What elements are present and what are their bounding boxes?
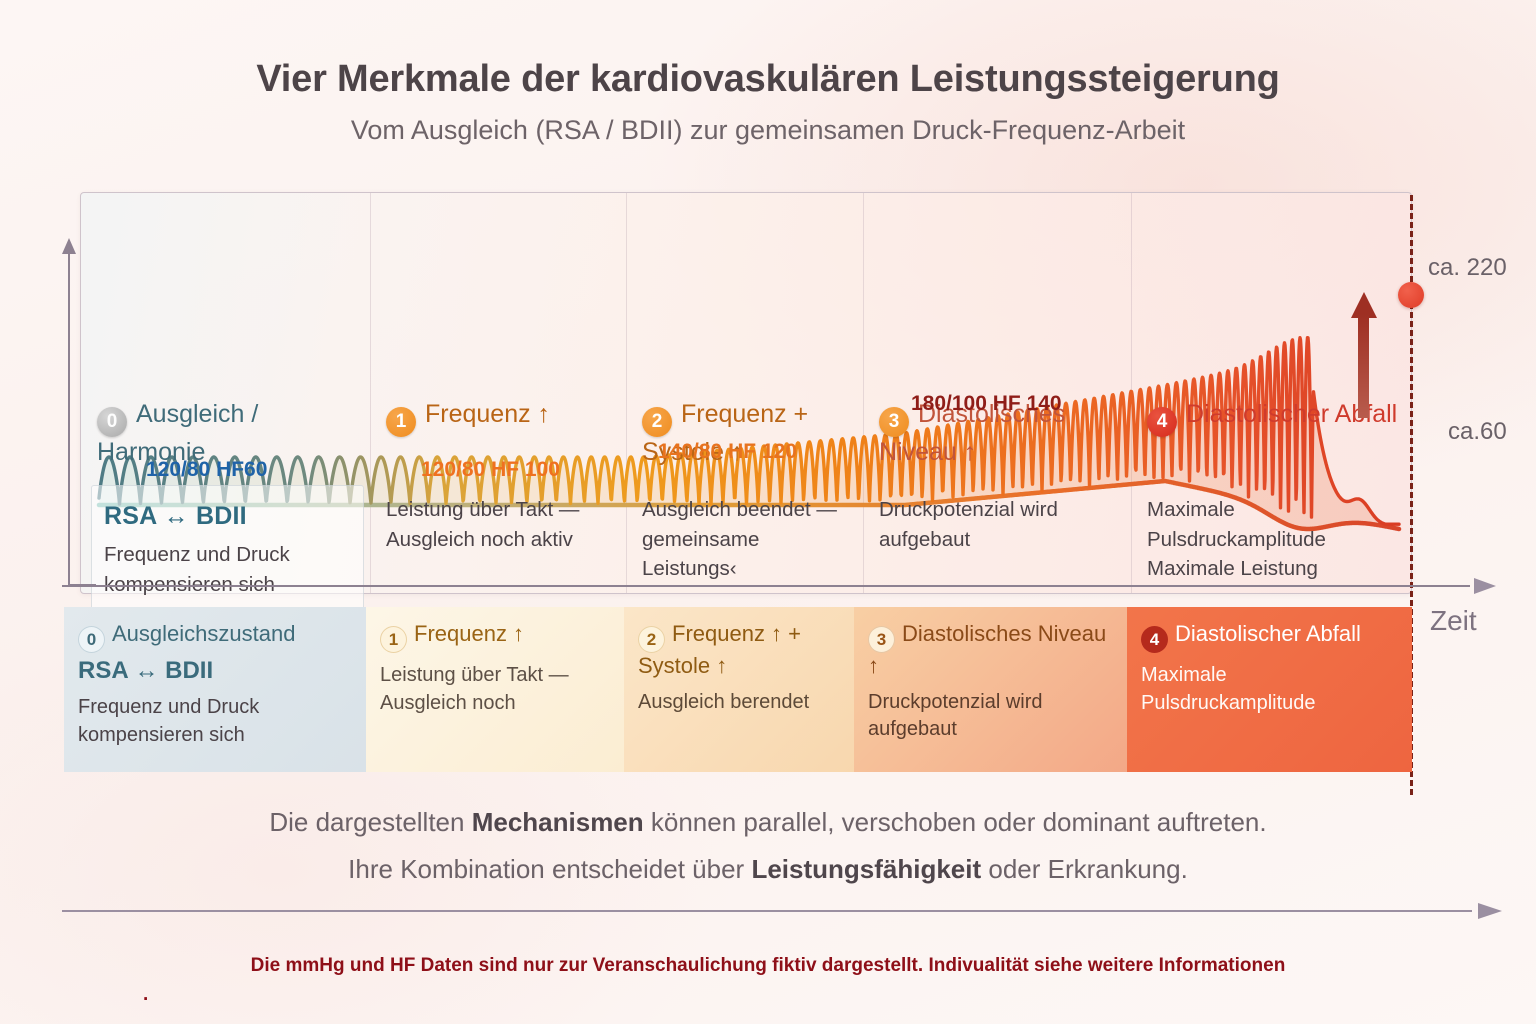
stage-4-text: Maximale Pulsdruckamplitude Maximale Lei… — [1147, 498, 1326, 580]
stage-2-text: Ausgleich beendet — gemeinsame Leistungs… — [642, 498, 837, 580]
peak-marker-dot — [1398, 282, 1424, 308]
stage-3-body: Druckpotenzial wird aufgebaut — [879, 495, 1119, 554]
card-badge-1: 1 — [380, 626, 407, 653]
header: Vier Merkmale der kardiovaskulären Leist… — [0, 58, 1536, 146]
footer-line-2: Ihre Kombination entscheidet über Leistu… — [0, 853, 1536, 886]
card-title-1: Frequenz ↑ — [414, 621, 524, 646]
footer-1b: Mechanismen — [472, 807, 644, 837]
annotation-peak-high: ca. 220 — [1428, 254, 1507, 282]
card-title-3: Diastolisches Niveau ↑ — [868, 621, 1106, 678]
footer-note: Die dargestellten Mechanismen können par… — [0, 806, 1536, 899]
bp-label-stage-2: 140/80 HF 120 — [658, 440, 797, 464]
card-badge-4: 4 — [1141, 626, 1168, 653]
stage-card-2[interactable]: 2Frequenz ↑ + Systole ↑ Ausgleich berend… — [624, 607, 854, 772]
page-title: Vier Merkmale der kardiovaskulären Leist… — [0, 58, 1536, 102]
stage-2-body: Ausgleich beendet — gemeinsame Leistungs… — [642, 495, 851, 584]
card-text-3: Druckpotenzial wird aufgebaut — [868, 689, 1113, 744]
card-badge-2: 2 — [638, 626, 665, 653]
stage-card-strip: 0Ausgleichszustand RSA ↔ BDII Frequenz u… — [64, 607, 1412, 772]
chart-panel: 0Ausgleich / Harmonie RSA ↔ BDII Frequen… — [80, 192, 1412, 594]
card-title-2: Frequenz ↑ + Systole ↑ — [638, 621, 801, 678]
disclaimer-line-2: . — [143, 984, 1536, 1006]
bp-label-stage-0: 120/80 HF60 — [146, 458, 267, 482]
stage-badge-4: 4 — [1147, 407, 1177, 437]
footer-2a: Ihre Kombination entscheidet über — [348, 854, 751, 884]
max-amplitude-arrow-icon — [1355, 292, 1371, 418]
bp-label-stage-3: 180/100 HF 140 — [911, 392, 1062, 416]
card-text-2: Ausgleich berendet — [638, 689, 840, 717]
bp-label-stage-1: 120/80 HF 100 — [421, 458, 560, 482]
card-title-4: Diastolischer Abfall — [1175, 621, 1361, 646]
card-badge-3: 3 — [868, 626, 895, 653]
bottom-axis-arrow — [62, 903, 1502, 919]
disclaimer: Die mmHg und HF Daten sind nur zur Veran… — [0, 948, 1536, 1006]
stage-0-lead: RSA ↔ BDII — [104, 498, 351, 534]
stage-1-text: Leistung über Takt — Ausgleich noch akti… — [386, 498, 579, 551]
stage-badge-1: 1 — [386, 407, 416, 437]
stage-badge-2: 2 — [642, 407, 672, 437]
stage-0-body: RSA ↔ BDII Frequenz und Druck kompensier… — [97, 495, 358, 617]
footer-2c: oder Erkrankung. — [981, 854, 1188, 884]
stage-0-card: RSA ↔ BDII Frequenz und Druck kompensier… — [91, 485, 364, 617]
stage-badge-3: 3 — [879, 407, 909, 437]
card-title-0: Ausgleichszustand — [112, 621, 295, 646]
y-axis — [62, 238, 76, 586]
footer-1c: können parallel, verschoben oder dominan… — [644, 807, 1267, 837]
stage-1-title: Frequenz ↑ — [425, 400, 550, 428]
card-text-1: Leistung über Takt — Ausgleich noch — [380, 662, 610, 717]
stage-4-body: Maximale Pulsdruckamplitude Maximale Lei… — [1147, 495, 1399, 584]
disclaimer-line-1: Die mmHg und HF Daten sind nur zur Veran… — [0, 948, 1536, 984]
stage-3-text: Druckpotenzial wird aufgebaut — [879, 498, 1058, 551]
footer-2b: Leistungsfähigkeit — [751, 854, 981, 884]
x-axis — [62, 578, 1496, 594]
footer-1a: Die dargestellten — [269, 807, 471, 837]
stage-card-0[interactable]: 0Ausgleichszustand RSA ↔ BDII Frequenz u… — [64, 607, 366, 772]
card-lead-0: RSA ↔ BDII — [78, 657, 352, 685]
annotation-peak-low: ca.60 — [1448, 418, 1507, 446]
card-badge-0: 0 — [78, 626, 105, 653]
stage-card-4[interactable]: 4Diastolischer Abfall Maximale Pulsdruck… — [1127, 607, 1412, 772]
stage-card-3[interactable]: 3Diastolisches Niveau ↑ Druckpotenzial w… — [854, 607, 1127, 772]
stage-card-1[interactable]: 1Frequenz ↑ Leistung über Takt — Ausglei… — [366, 607, 624, 772]
stage-1-body: Leistung über Takt — Ausgleich noch akti… — [386, 495, 614, 554]
card-text-4: Maximale Pulsdruckamplitude — [1141, 662, 1398, 717]
stage-badge-0: 0 — [97, 407, 127, 437]
page-subtitle: Vom Ausgleich (RSA / BDII) zur gemeinsam… — [0, 114, 1536, 146]
x-axis-label: Zeit — [1430, 605, 1477, 637]
stage-1-header: 1Frequenz ↑ — [386, 399, 616, 437]
footer-line-1: Die dargestellten Mechanismen können par… — [0, 806, 1536, 839]
card-text-0: Frequenz und Druck kompensieren sich — [78, 694, 352, 749]
